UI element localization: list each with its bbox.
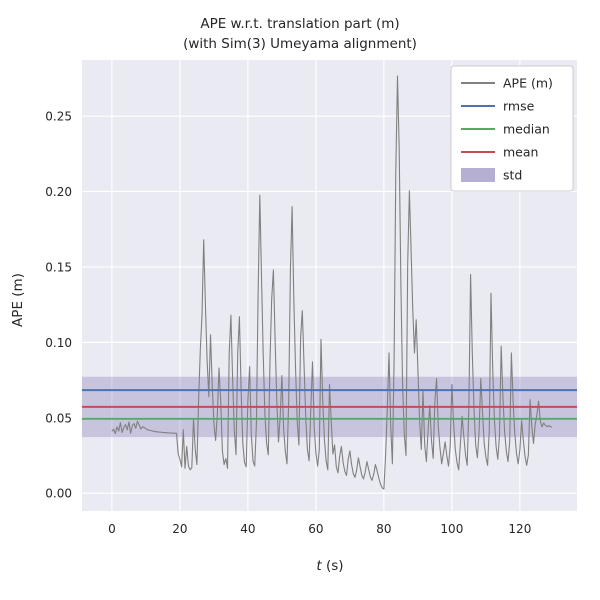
y-tick-label: 0.20 (45, 185, 72, 199)
y-tick-label: 0.25 (45, 110, 72, 124)
x-tick-label: 80 (376, 522, 391, 536)
legend-label: median (503, 122, 550, 137)
x-tick-label: 60 (308, 522, 323, 536)
figure-container: 020406080100120 0.000.050.100.150.200.25… (0, 0, 600, 600)
y-tick-label: 0.10 (45, 336, 72, 350)
x-tick-label: 40 (240, 522, 255, 536)
x-axis-label: t (s) (316, 558, 343, 574)
x-axis-label-unit: (s) (322, 558, 344, 574)
y-tick-label: 0.00 (45, 487, 72, 501)
x-tick-label: 100 (440, 522, 463, 536)
legend-label: APE (m) (503, 76, 553, 91)
x-tick-label: 120 (508, 522, 531, 536)
chart-title-line-1: APE w.r.t. translation part (m) (200, 16, 399, 32)
legend-item[interactable]: std (461, 168, 522, 183)
legend-swatch (461, 168, 495, 182)
ape-translation-chart: 020406080100120 0.000.050.100.150.200.25… (0, 0, 600, 600)
legend-label: rmse (503, 99, 535, 114)
x-tick-label: 20 (172, 522, 187, 536)
chart-legend[interactable]: APE (m)rmsemedianmeanstd (451, 66, 573, 191)
legend-label: std (503, 168, 522, 183)
x-tick-label: 0 (108, 522, 116, 536)
legend-label: mean (503, 145, 538, 160)
chart-title-line-2: (with Sim(3) Umeyama alignment) (183, 36, 417, 52)
y-axis-label: APE (m) (10, 273, 26, 327)
y-tick-label: 0.05 (45, 411, 72, 425)
y-tick-label: 0.15 (45, 260, 72, 274)
